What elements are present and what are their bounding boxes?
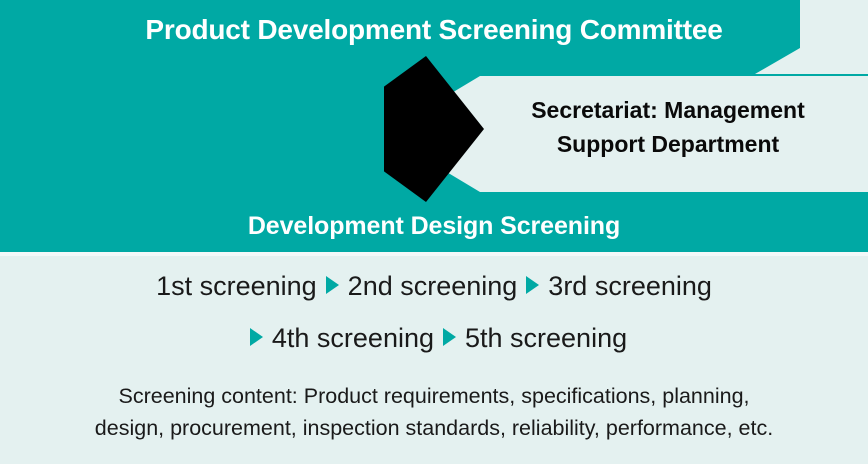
screening-content-note-line-1: Screening content: Product requirements,… [0,380,868,412]
triangle-right-icon [250,328,263,346]
screening-row: 4th screening5th screening [0,320,868,356]
secretariat-label-line-2: Support Department [478,127,858,161]
triangle-right-icon [443,328,456,346]
screening-step-4: 4th screening [272,323,434,353]
secretariat-label-line-1: Secretariat: Management [478,93,858,127]
triangle-right-icon [526,276,539,294]
screening-step-3: 3rd screening [548,271,712,301]
screening-content-note: Screening content: Product requirements,… [0,380,868,444]
diagram-root: Product Development Screening Committee … [0,0,868,464]
body-area: 1st screening2nd screening3rd screening … [0,256,868,464]
screening-step-5: 5th screening [465,323,627,353]
header-subtitle: Development Design Screening [0,208,868,244]
screening-step-1: 1st screening [156,271,317,301]
triangle-right-icon [326,276,339,294]
screening-step-2: 2nd screening [348,271,518,301]
page-title: Product Development Screening Committee [0,10,868,50]
screening-content-note-line-2: design, procurement, inspection standard… [0,412,868,444]
band-divider [0,252,868,256]
secretariat-label: Secretariat: Management Support Departme… [478,93,858,161]
screening-row: 1st screening2nd screening3rd screening [0,268,868,304]
